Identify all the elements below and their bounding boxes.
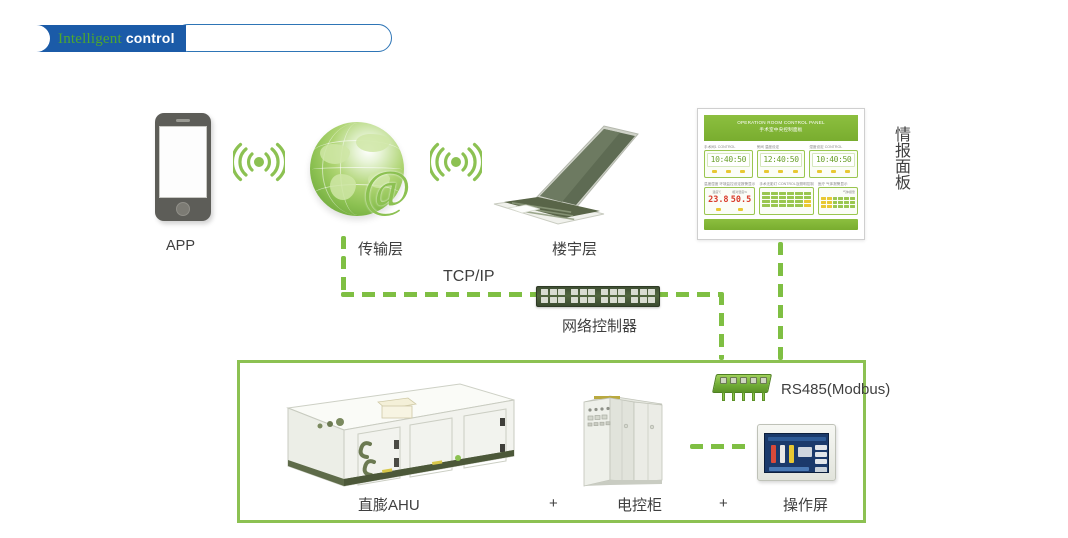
panel-alarm-cell: 医疗 气体报警显示 气体报警 xyxy=(818,182,858,215)
panel-readout: 10:40:50 xyxy=(812,153,855,167)
phone-screen xyxy=(159,126,207,198)
label-cabinet: 电控柜 xyxy=(617,494,662,515)
label-marker-transmission xyxy=(341,236,346,254)
smartphone-icon xyxy=(155,113,211,221)
laptop-icon xyxy=(492,110,640,228)
patch-panel-icon xyxy=(536,286,660,307)
control-panel-header: OPERATION ROOM CONTROL PANEL 手术室中央控制面板 xyxy=(704,115,858,141)
air-handling-unit-icon xyxy=(282,378,520,493)
page-title: Intelligent control xyxy=(58,27,175,50)
panel-alarm-caption-inner: 气体报警 xyxy=(821,190,855,195)
label-transmission-layer: 传输层 xyxy=(358,238,403,259)
control-panel-row-top: 手术间1 CONTROL 10:40:50 房间 温度设定 12:40:50 湿… xyxy=(704,145,858,178)
panel-keypad-box xyxy=(759,187,814,215)
patch-panel-port-row xyxy=(541,289,655,295)
panel-cell-box: 10:40:50 xyxy=(704,150,753,178)
diagram-canvas: Intelligent control APP xyxy=(0,0,1068,538)
panel-cell-box: 10:40:50 xyxy=(809,150,858,178)
panel-indicator-dots xyxy=(760,170,803,173)
label-info-panel-text: 情报面板 xyxy=(889,126,912,190)
label-hmi: 操作屏 xyxy=(783,494,828,515)
panel-cell: 房间 温度设定 12:40:50 xyxy=(757,145,806,178)
connector-cabinet-to-hmi xyxy=(690,444,750,449)
panel-sensor-caption: 温度湿度 环境监控设定报警显示 xyxy=(704,182,755,187)
panel-cell-box: 12:40:50 xyxy=(757,150,806,178)
label-app: APP xyxy=(166,238,195,254)
connector-tcpip-left xyxy=(341,292,541,297)
plus-operator: + xyxy=(549,495,558,512)
panel-cell: 湿度设定 CONTROL 10:40:50 xyxy=(809,145,858,178)
globe-icon: @ xyxy=(310,122,404,216)
panel-cell: 手术间1 CONTROL 10:40:50 xyxy=(704,145,753,178)
title-word-intelligent: Intelligent xyxy=(58,31,122,47)
control-cabinet-icon xyxy=(580,392,664,488)
control-panel-title-en: OPERATION ROOM CONTROL PANEL xyxy=(704,119,858,126)
label-network-controller: 网络控制器 xyxy=(562,315,637,336)
label-info-panel: 情报面板 xyxy=(889,126,909,197)
connector-transmission-down xyxy=(341,256,346,294)
connector-panel-down xyxy=(778,242,783,360)
control-panel-footer xyxy=(704,219,858,230)
panel-sensor-cell: 温度湿度 环境监控设定报警显示 温度℃ 相对湿度% 23.8 50.5 xyxy=(704,182,755,215)
phone-home-button xyxy=(176,202,190,216)
title-frame xyxy=(174,24,392,52)
control-panel-row-bottom: 温度湿度 环境监控设定报警显示 温度℃ 相对湿度% 23.8 50.5 手术无影… xyxy=(704,182,858,215)
at-symbol-icon: @ xyxy=(363,166,413,214)
terminal-block-icon xyxy=(714,372,772,402)
humidity-value: 50.5 xyxy=(731,195,751,206)
radio-wave-icon xyxy=(233,141,285,183)
touch-panel-icon xyxy=(757,424,836,481)
label-tcpip: TCP/IP xyxy=(443,268,495,286)
connector-to-equipment-box xyxy=(719,292,724,360)
patch-panel-port-row xyxy=(541,297,655,303)
keypad-grid xyxy=(762,192,811,207)
control-panel-title-cn: 手术室中央控制面板 xyxy=(704,126,858,133)
panel-keypad-caption: 手术无影灯 CONTROL及照明控制 xyxy=(759,182,814,187)
panel-indicator-dots xyxy=(812,170,855,173)
alarm-grid xyxy=(821,197,855,208)
connector-tcpip-right xyxy=(655,292,723,297)
touch-panel-screen xyxy=(764,433,829,473)
temp-value: 23.8 xyxy=(708,195,728,206)
phone-speaker xyxy=(176,119,190,122)
panel-alarm-box: 气体报警 xyxy=(818,187,858,215)
panel-indicator-dots xyxy=(707,170,750,173)
plus-operator: + xyxy=(719,495,728,512)
panel-sensor-box: 温度℃ 相对湿度% 23.8 50.5 xyxy=(704,187,755,215)
panel-readout: 10:40:50 xyxy=(707,153,750,167)
panel-keypad-cell: 手术无影灯 CONTROL及照明控制 xyxy=(759,182,814,215)
control-panel-icon: OPERATION ROOM CONTROL PANEL 手术室中央控制面板 手… xyxy=(697,108,865,240)
radio-wave-icon xyxy=(430,141,482,183)
title-word-control: control xyxy=(126,30,175,46)
label-building-layer: 楼宇层 xyxy=(552,238,597,259)
panel-readout: 12:40:50 xyxy=(760,153,803,167)
label-rs485: RS485(Modbus) xyxy=(781,381,890,398)
label-ahu: 直膨AHU xyxy=(358,494,420,515)
